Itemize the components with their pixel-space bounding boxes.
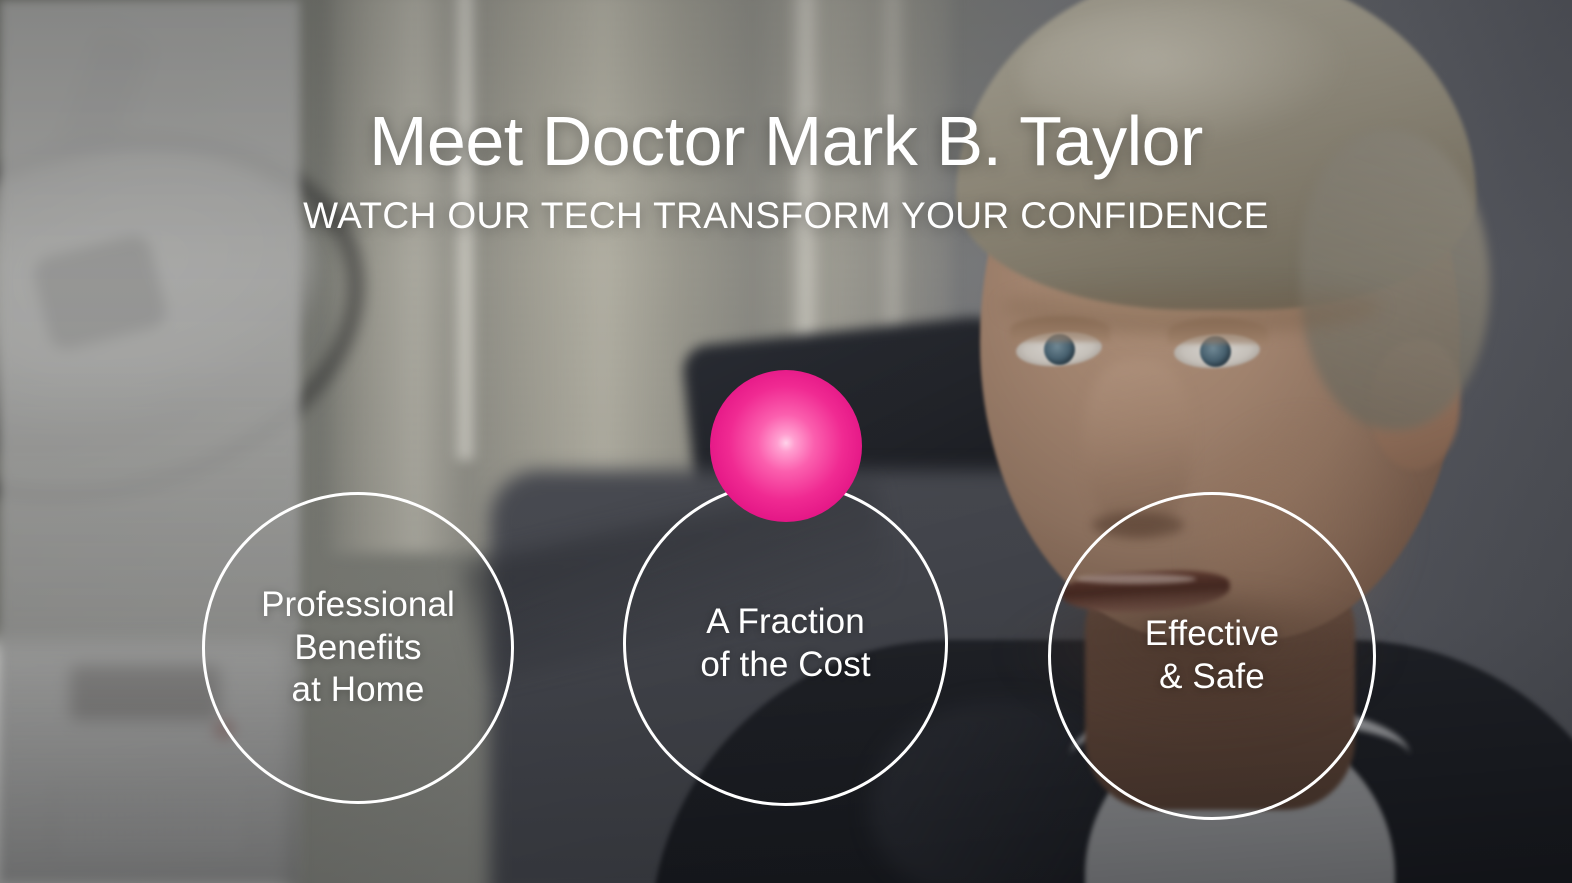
badge-effective-and-safe[interactable]: Effective & Safe xyxy=(1048,492,1376,820)
badge-label: Professional Benefits at Home xyxy=(247,584,469,712)
pink-gradient-sphere-icon xyxy=(710,370,862,522)
video-frame: Meet Doctor Mark B. Taylor WATCH OUR TEC… xyxy=(0,0,1572,883)
left-eye xyxy=(1015,329,1103,369)
hair-temple xyxy=(1300,130,1490,430)
exam-lamp-rim xyxy=(0,85,399,550)
headline-block: Meet Doctor Mark B. Taylor WATCH OUR TEC… xyxy=(0,104,1572,237)
right-eye xyxy=(1173,332,1261,370)
window-mullion-icon xyxy=(790,0,820,410)
badge-a-fraction-of-the-cost[interactable]: A Fraction of the Cost xyxy=(623,481,948,806)
badge-label: Effective & Safe xyxy=(1131,613,1294,698)
exam-lamp-hub xyxy=(30,232,169,353)
left-iris xyxy=(1044,334,1075,365)
exam-lamp-dish xyxy=(0,101,348,499)
badge-label: A Fraction of the Cost xyxy=(686,601,884,686)
window-mullion-icon xyxy=(452,0,478,460)
right-eyelid xyxy=(1168,318,1268,344)
left-eyelid xyxy=(1010,316,1110,342)
hair-highlight xyxy=(1020,0,1350,150)
clinic-cabinet-vent xyxy=(55,780,240,855)
window-mullion-icon xyxy=(880,0,906,350)
brow-shadow xyxy=(1002,278,1382,334)
hair xyxy=(956,0,1476,310)
clinic-cabinet-top-panel xyxy=(70,665,220,720)
subtitle: WATCH OUR TECH TRANSFORM YOUR CONFIDENCE xyxy=(0,196,1572,237)
exam-lamp-arm xyxy=(26,26,154,244)
right-iris xyxy=(1200,336,1231,367)
page-title: Meet Doctor Mark B. Taylor xyxy=(0,104,1572,178)
badge-professional-benefits-at-home[interactable]: Professional Benefits at Home xyxy=(202,492,514,804)
ear xyxy=(1370,340,1460,470)
window-blinds-background xyxy=(330,0,952,553)
